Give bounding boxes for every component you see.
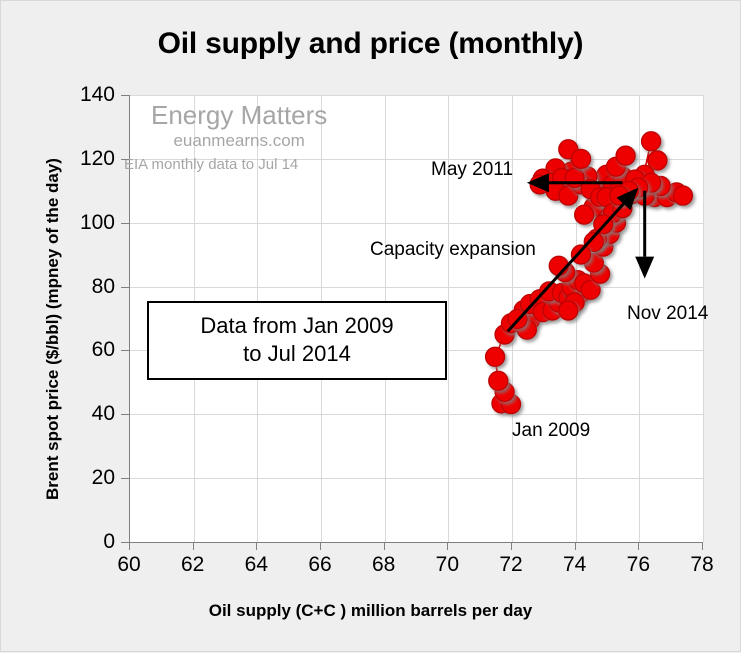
x-axis-tick <box>320 542 321 550</box>
x-axis-title: Oil supply (C+C ) million barrels per da… <box>1 601 740 621</box>
x-axis-tick-label: 74 <box>545 553 605 577</box>
chart-figure: Oil supply and price (monthly) Energy Ma… <box>0 0 741 652</box>
x-axis-tick <box>638 542 639 550</box>
data-range-line-1: Data from Jan 2009 <box>153 312 441 340</box>
gridline-vertical <box>576 95 577 542</box>
page-title: Oil supply and price (monthly) <box>1 27 740 61</box>
x-axis-tick-label: 60 <box>99 553 159 577</box>
x-axis-tick-label: 64 <box>226 553 286 577</box>
x-axis-tick-label: 78 <box>672 553 732 577</box>
gridline-horizontal <box>130 95 703 96</box>
data-range-line-2: to Jul 2014 <box>153 340 441 368</box>
x-axis-tick-label: 70 <box>417 553 477 577</box>
y-axis-tick <box>121 350 129 351</box>
x-axis-tick-label: 76 <box>608 553 668 577</box>
y-axis-tick <box>121 478 129 479</box>
gridline-horizontal <box>130 414 703 415</box>
annotation-may-2011: May 2011 <box>431 159 513 181</box>
gridline-horizontal <box>130 287 703 288</box>
y-axis-title: Brent spot price ($/bbl) (mpney of the d… <box>43 99 63 559</box>
y-axis-tick <box>121 95 129 96</box>
annotation-nov-2014: Nov 2014 <box>627 303 708 325</box>
data-range-textbox: Data from Jan 2009 to Jul 2014 <box>147 301 447 380</box>
y-axis-tick <box>121 159 129 160</box>
annotation-jan-2009: Jan 2009 <box>512 420 590 442</box>
gridline-horizontal <box>130 159 703 160</box>
x-axis-tick <box>702 542 703 550</box>
x-axis-tick <box>256 542 257 550</box>
gridline-horizontal <box>130 478 703 479</box>
x-axis-tick <box>129 542 130 550</box>
x-axis-tick-label: 66 <box>290 553 350 577</box>
y-axis-tick <box>121 223 129 224</box>
gridline-horizontal <box>130 223 703 224</box>
x-axis-tick-label: 68 <box>354 553 414 577</box>
x-axis-tick <box>575 542 576 550</box>
x-axis-tick <box>511 542 512 550</box>
x-axis-tick <box>384 542 385 550</box>
annotation-capacity-expansion: Capacity expansion <box>370 239 536 261</box>
y-axis-tick <box>121 414 129 415</box>
x-axis-tick-label: 62 <box>163 553 223 577</box>
x-axis-tick <box>193 542 194 550</box>
x-axis-tick-label: 72 <box>481 553 541 577</box>
x-axis-tick <box>447 542 448 550</box>
y-axis-tick <box>121 542 129 543</box>
y-axis-tick <box>121 287 129 288</box>
